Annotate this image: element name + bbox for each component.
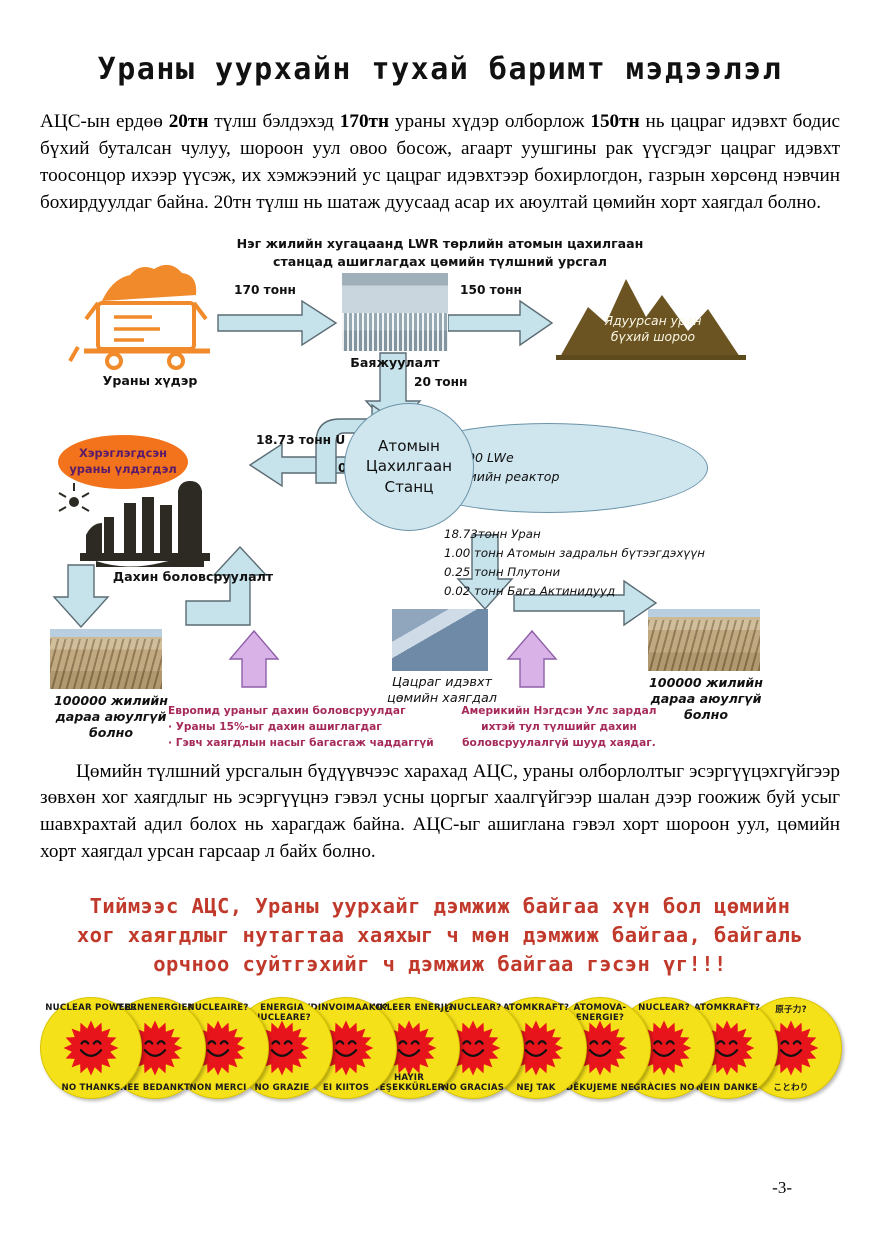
tailings-label-line1: Ядуурсан уран bbox=[604, 313, 701, 328]
note-left-line1: Европид ураныг дахин боловсруулдаг bbox=[168, 703, 458, 719]
balance-item: 0.02 тонн Бага Актинидууд bbox=[444, 582, 705, 601]
enrichment-label: Баяжуулалт bbox=[328, 355, 462, 371]
page-number: -3- bbox=[772, 1178, 792, 1198]
note-right-line1: Америкийн Нэгдсэн Улс зардал bbox=[444, 703, 674, 719]
slogan-line2: хог хаягдлыг нутагтаа хаяхыг ч мөн дэмжи… bbox=[40, 921, 840, 950]
nuclear-fuel-cycle-diagram: Нэг жилийн хугацаанд LWR төрлийн атомын … bbox=[40, 235, 840, 745]
arrow-note-right-pointer bbox=[508, 631, 556, 687]
waste-right-line1: 100000 жилийн bbox=[649, 675, 763, 690]
arrow-enrichment-to-tailings bbox=[448, 301, 552, 345]
smiling-sun-icon bbox=[63, 1020, 119, 1076]
flow-enrichment-to-tailings: 150 тонн bbox=[460, 283, 522, 297]
flow-enrichment-to-plant: 20 тонн bbox=[414, 375, 467, 389]
badge-top-text: NUCLEAR POWER? bbox=[41, 1003, 141, 1013]
spent-uranium-oval: Хэрэглэгдсэн ураны үлдэгдэл bbox=[58, 435, 188, 489]
intro-text-run: ураны хүдэр олборлож bbox=[389, 111, 590, 132]
intro-text-run: АЦС-ын ердөө bbox=[40, 111, 169, 132]
radioactive-waste-line1: Цацраг идэвхт bbox=[392, 675, 492, 690]
intro-bold-value: 20тн bbox=[169, 111, 209, 132]
waste-left-line2: дараа аюулгүй болно bbox=[56, 709, 167, 740]
enrichment-facility-photo bbox=[342, 273, 448, 351]
analysis-paragraph: Цөмийн түлшний урсгалын бүдүүвчээс харах… bbox=[40, 759, 840, 867]
note-left-line3: · Гэвч хаягдлын насыг багасгаж чаддаггүй bbox=[168, 735, 458, 751]
note-right-line3: боловсруулалгүй шууд хаядаг. bbox=[444, 735, 674, 751]
waste-repository-photo-left bbox=[50, 629, 162, 689]
arrow-ore-to-enrichment bbox=[218, 301, 336, 345]
intro-text-run: түлш бэлдэхэд bbox=[208, 111, 339, 132]
spent-uranium-line1: Хэрэглэгдсэн bbox=[79, 446, 167, 460]
slogan-line1: Тиймээс АЦС, Ураны уурхайг дэмжиж байгаа… bbox=[40, 892, 840, 921]
intro-bold-value: 170тн bbox=[340, 111, 389, 132]
intro-bold-value: 150тн bbox=[590, 111, 639, 132]
flow-uranium-return: 18.73 тонн U bbox=[256, 433, 345, 447]
note-left-line2: · Ураны 15%-ыг дахин ашиглагдаг bbox=[168, 719, 458, 735]
nuclear-power-plant-ellipse: Атомын Цахилгаан Станц bbox=[344, 403, 474, 531]
spent-uranium-line2: ураны үлдэгдэл bbox=[69, 462, 176, 476]
intro-paragraph: АЦС-ын ердөө 20тн түлш бэлдэхэд 170тн ур… bbox=[40, 109, 840, 217]
waste-left-line1: 100000 жилийн bbox=[54, 693, 168, 708]
plant-label-line1: Атомын bbox=[378, 437, 440, 455]
uranium-ore-cart-icon bbox=[70, 264, 210, 367]
page-title: Ураны уурхайн тухай баримт мэдээлэл bbox=[40, 0, 840, 87]
slogan-line3: орчноо суйтгэхийг ч дэмжиж байгаа гэсэн … bbox=[40, 950, 840, 979]
document-page: Ураны уурхайн тухай баримт мэдээлэл АЦС-… bbox=[0, 0, 880, 1240]
note-europe-reprocessing: Европид ураныг дахин боловсруулдаг · Ура… bbox=[168, 703, 458, 752]
spent-fuel-canister-photo bbox=[392, 609, 488, 671]
reprocessing-plant-icon bbox=[59, 481, 210, 567]
note-usa-direct-disposal: Америкийн Нэгдсэн Улс зардал ихтэй тул т… bbox=[444, 703, 674, 752]
plant-label-line2: Цахилгаан bbox=[366, 457, 452, 475]
antinuclear-badge-row: NUCLEAR POWER?NO THANKSKERNENERGIE?NEE B… bbox=[40, 993, 840, 1105]
waste-left-label: 100000 жилийн дараа аюулгүй болно bbox=[36, 693, 186, 742]
note-right-line2: ихтэй тул түлшийг дахин bbox=[444, 719, 674, 735]
mass-balance-list: 18.73тонн Уран 1.00 тонн Атомын задральн… bbox=[444, 525, 705, 601]
badge-bottom-text: NO THANKS bbox=[41, 1083, 141, 1093]
reprocessing-label: Дахин боловсруулалт bbox=[78, 569, 308, 585]
antinuclear-badge: NUCLEAR POWER?NO THANKS bbox=[40, 997, 142, 1099]
balance-item: 1.00 тонн Атомын задральн бүтээгдэхүүн bbox=[444, 544, 705, 563]
arrow-note-left-pointer bbox=[230, 631, 278, 687]
balance-item: 18.73тонн Уран bbox=[444, 525, 705, 544]
tailings-label-line2: бүхий шороо bbox=[611, 329, 695, 344]
flow-ore-to-enrichment: 170 тонн bbox=[234, 283, 296, 297]
plant-label-line3: Станц bbox=[384, 478, 433, 496]
tailings-mountain-label: Ядуурсан уран бүхий шороо bbox=[560, 313, 746, 346]
uranium-ore-label: Ураны хүдэр bbox=[70, 373, 230, 389]
waste-repository-photo-right bbox=[648, 609, 760, 671]
balance-item: 0.25 тонн Плутони bbox=[444, 563, 705, 582]
slogan-text: Тиймээс АЦС, Ураны уурхайг дэмжиж байгаа… bbox=[40, 892, 840, 979]
